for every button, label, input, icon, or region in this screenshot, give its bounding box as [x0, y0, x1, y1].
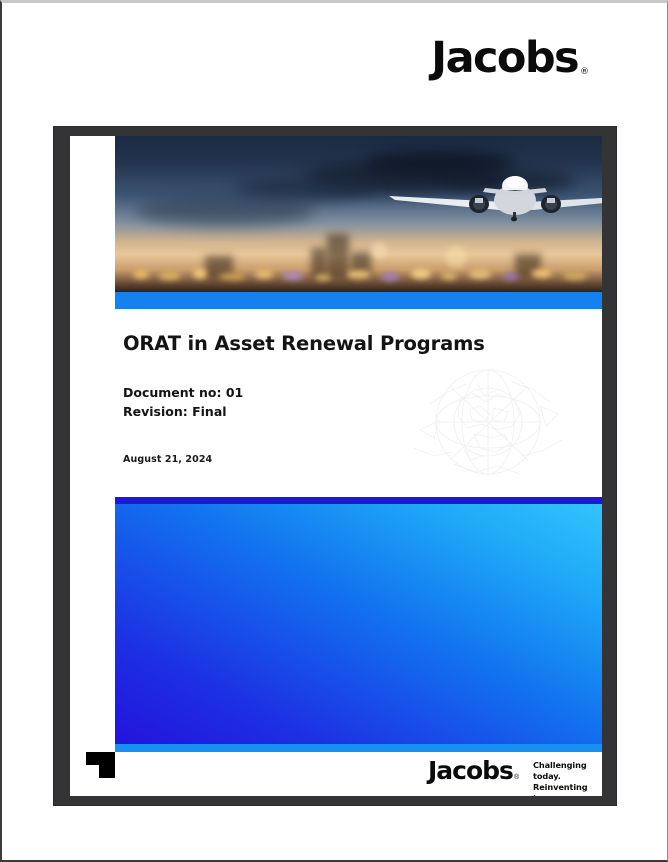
airplane-icon [387, 174, 602, 226]
cover-footer: Jacobs ® Challenging today. Reinventing … [115, 752, 602, 796]
city-light-bokeh [315, 274, 331, 281]
document-meta: Document no: 01 Revision: Final [123, 384, 553, 422]
gradient-top-stripe [115, 497, 602, 504]
gradient-panel [115, 497, 602, 752]
corner-registration-mark [70, 752, 115, 796]
city-light-bokeh [219, 273, 245, 280]
city-light-bokeh [563, 272, 587, 280]
page-title: ORAT in Asset Renewal Programs [123, 332, 553, 355]
document-number: Document no: 01 [123, 384, 553, 403]
cover-page: ORAT in Asset Renewal Programs Document … [70, 136, 602, 796]
city-light-bokeh [133, 270, 149, 279]
city-light-bokeh [411, 269, 431, 279]
footer-tagline: Challenging today. Reinventing tomorrow. [533, 760, 602, 796]
footer-jacobs-logo: Jacobs ® [428, 758, 519, 783]
jacobs-wordmark: Jacobs [431, 37, 578, 80]
document-page: Jacobs ® [0, 0, 668, 862]
city-light-bokeh [347, 270, 371, 279]
city-light-bokeh [381, 273, 399, 281]
airplane-photo [115, 136, 602, 292]
registration-mark-notch [86, 765, 99, 778]
registered-trademark-icon: ® [580, 67, 589, 77]
gradient-bottom-stripe [115, 744, 602, 752]
city-light-bokeh [159, 272, 181, 280]
title-block: ORAT in Asset Renewal Programs Document … [123, 332, 553, 465]
city-light-bokeh [445, 246, 467, 268]
city-light-bokeh [503, 273, 519, 280]
document-frame: ORAT in Asset Renewal Programs Document … [54, 127, 616, 805]
document-revision: Revision: Final [123, 403, 553, 422]
cloud-shape [135, 196, 315, 226]
city-light-bokeh [283, 272, 303, 280]
registered-trademark-icon: ® [514, 774, 519, 781]
tagline-line-1: Challenging today. [533, 760, 602, 782]
city-light-bokeh [193, 269, 207, 279]
document-date: August 21, 2024 [123, 454, 553, 465]
footer-jacobs-wordmark: Jacobs [428, 758, 513, 783]
city-light-bokeh [441, 272, 457, 280]
cover-left-gutter [70, 136, 115, 796]
accent-rule [115, 292, 602, 309]
city-light-bokeh [469, 270, 491, 279]
city-light-bokeh [255, 270, 273, 279]
skyline-silhouette [327, 234, 349, 278]
city-light-bokeh [531, 269, 551, 278]
jacobs-brand-header: Jacobs ® [431, 37, 589, 80]
tagline-line-2: Reinventing tomorrow. [533, 782, 602, 796]
city-light-bokeh [371, 242, 387, 258]
